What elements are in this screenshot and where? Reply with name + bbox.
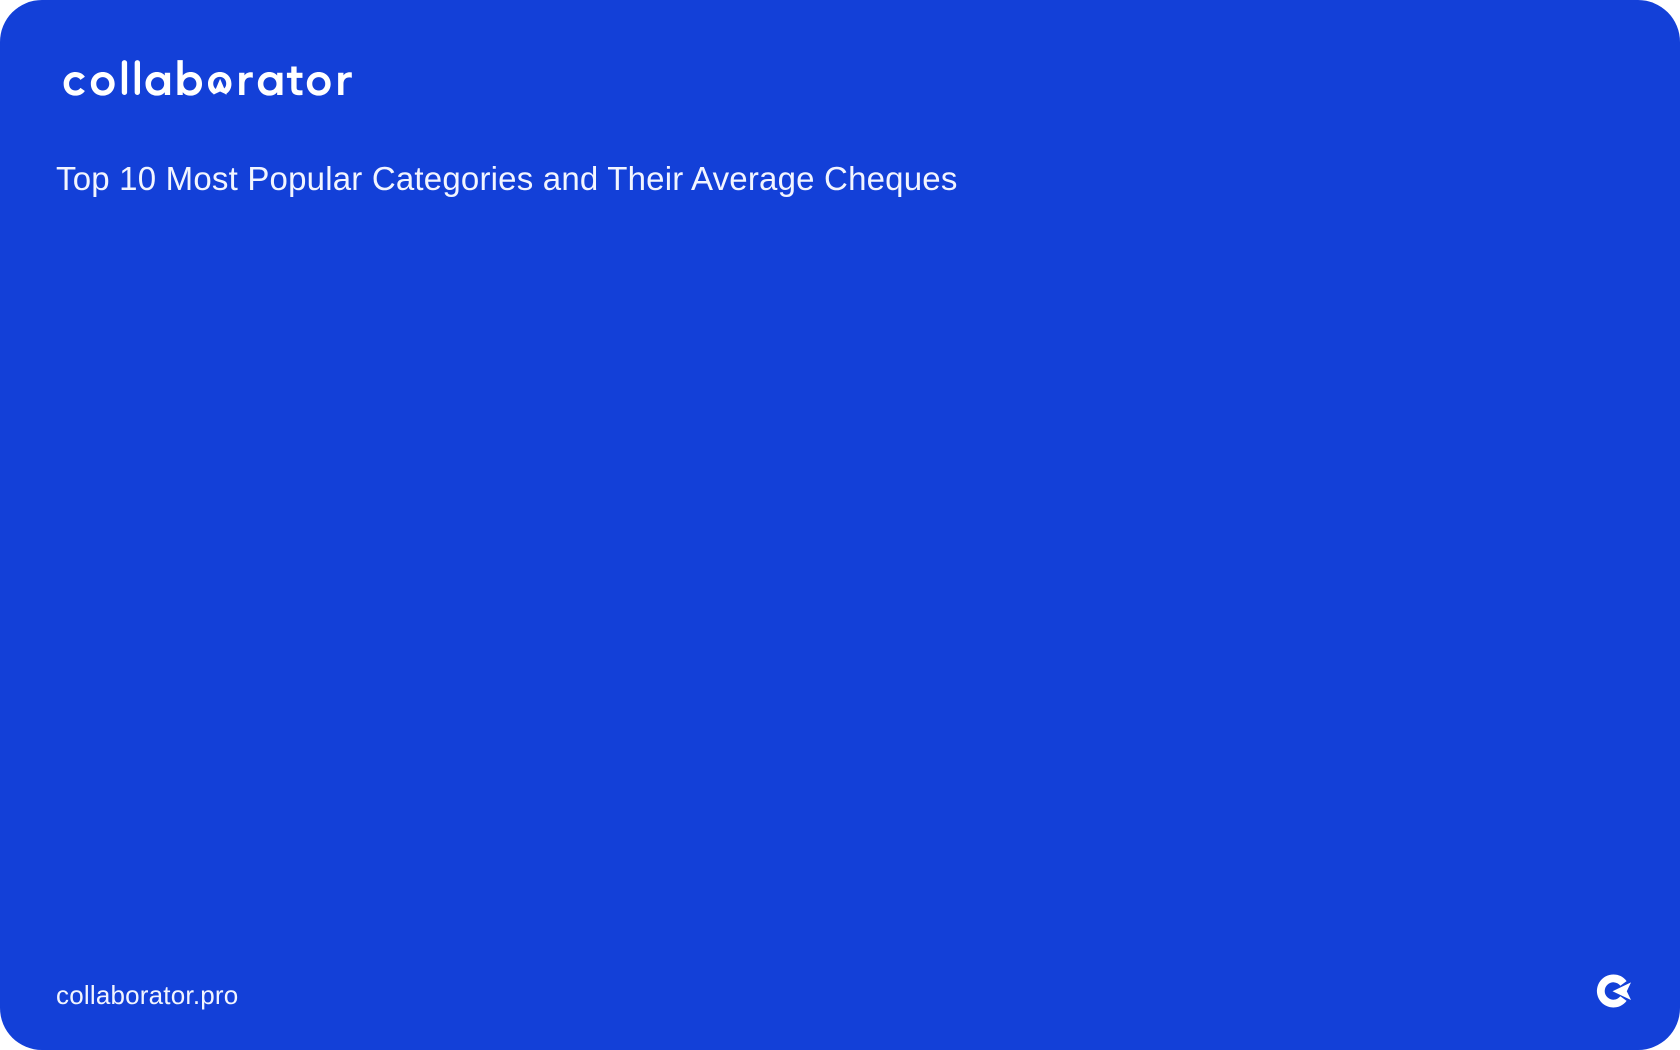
collaborator-wordmark-icon [56, 53, 355, 101]
slide-title: Top 10 Most Popular Categories and Their… [56, 158, 1556, 199]
brand-lockup[interactable] [56, 48, 355, 106]
slide-canvas: Top 10 Most Popular Categories and Their… [0, 0, 1680, 1050]
collaborator-monogram-icon [1590, 968, 1636, 1014]
footer-website-url[interactable]: collaborator.pro [56, 982, 238, 1008]
chart-area: Chart plotting area is blank in the scre… [56, 232, 1624, 920]
chart-canvas: Chart plotting area is blank in the scre… [56, 232, 1624, 920]
